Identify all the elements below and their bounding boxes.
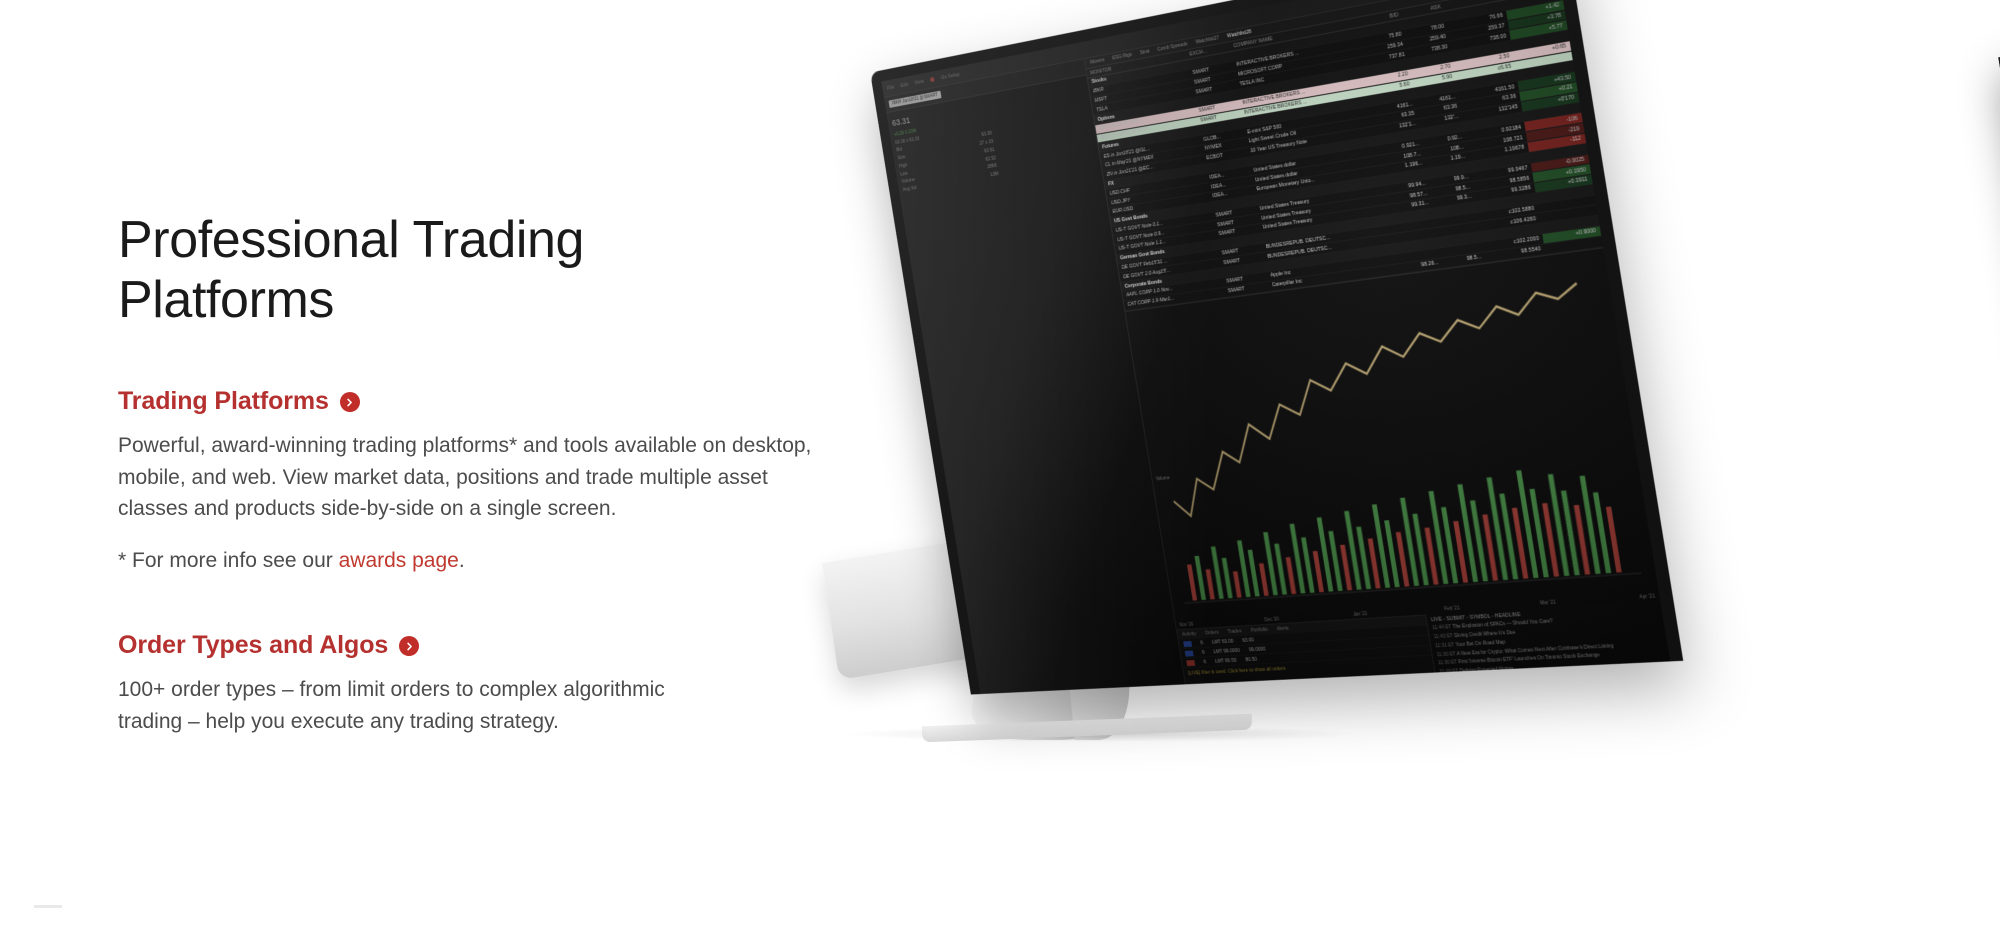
axis-tick: Dec '20 — [1264, 616, 1279, 622]
order-limit: LMT 63.00 — [1211, 638, 1233, 645]
stat-label: Avg Vol — [902, 184, 917, 194]
news-time: 11:15 ET — [1441, 679, 1461, 685]
orders-tab-alerts[interactable]: Alerts — [1276, 626, 1289, 633]
news-time: 11:43 ET — [1434, 634, 1454, 640]
sell-flag-icon — [1186, 660, 1195, 666]
news-headline: Defying Expected Norms — [1460, 667, 1514, 675]
order-value: 63.00 — [1242, 637, 1254, 643]
news-time: 11:00 ET — [1442, 688, 1462, 694]
order-qty: 6 — [1200, 640, 1203, 646]
axis-tick: Feb '21 — [1444, 605, 1460, 611]
tab-movers[interactable]: Movers — [1090, 57, 1105, 65]
menu-edit[interactable]: Edit — [900, 82, 908, 89]
order-types-body: 100+ order types – from limit orders to … — [118, 674, 718, 738]
axis-tick: Nov '20 — [1179, 622, 1193, 628]
order-types-label: Order Types and Algos — [118, 631, 388, 660]
menu-file[interactable]: File — [887, 84, 895, 91]
orders-tab-orders[interactable]: Orders — [1205, 630, 1220, 637]
tab-esg[interactable]: ESG Rtgs — [1112, 52, 1133, 61]
record-icon — [930, 77, 935, 82]
stat-value: 13M — [990, 170, 999, 179]
news-headline: Giving Credit Where It's Due — [1454, 631, 1516, 639]
axis-tick: Jan '21 — [1353, 611, 1368, 617]
order-qty: 6 — [1201, 649, 1204, 655]
monitor-screen: File Edit View Go Setup IBKR Jun18'21 @S… — [881, 0, 1670, 694]
news-headline: Chart of The Week: Global Economy: Fisca… — [1461, 674, 1572, 684]
app-body: IBKR Jun18'21 @SMART 63.31 +0.29 0.23% 6… — [884, 0, 1670, 694]
news-time: 11:44 ET — [1432, 625, 1452, 631]
orders-tab-trades[interactable]: Trades — [1227, 628, 1242, 635]
price-chart — [1125, 248, 1660, 630]
order-limit: LMT 80.50 — [1214, 657, 1236, 664]
news-headline: Your Bet On Road Map — [1455, 640, 1506, 648]
order-qty: 6 — [1203, 659, 1206, 665]
news-time: 11:30 ET — [1436, 652, 1456, 658]
chevron-right-circle-icon — [399, 636, 419, 656]
trading-platform-monitor-image: File Edit View Go Setup IBKR Jun18'21 @S… — [1010, 0, 2000, 941]
news-time: 11:29 ET — [1439, 670, 1459, 676]
chart-panel: Nov '20 Dec '20 Jan '21 Feb '21 Mar '21 … — [1125, 247, 1660, 630]
awards-page-link[interactable]: awards page — [339, 549, 459, 572]
menu-view[interactable]: View — [914, 78, 924, 85]
order-value: 80.50 — [1245, 656, 1257, 662]
tab-strat[interactable]: Strat — [1140, 49, 1150, 57]
trading-platforms-label: Trading Platforms — [118, 387, 329, 416]
news-item[interactable]: 11:15 ET Chart of The Week: Global Econo… — [1441, 668, 1669, 687]
setup-label[interactable]: Go Setup — [940, 71, 960, 80]
orders-tab-activity[interactable]: Activity — [1182, 631, 1197, 638]
order-limit: LMT 99.0000 — [1213, 647, 1240, 654]
trading-app: File Edit View Go Setup IBKR Jun18'21 @S… — [881, 0, 1670, 694]
section-trading-platforms: Trading Platforms Powerful, award-winnin… — [118, 387, 878, 577]
section-order-types: Order Types and Algos 100+ order types –… — [118, 631, 878, 738]
news-list: 11:44 ET The Explosion of SPACs — Should… — [1432, 612, 1670, 694]
trading-platforms-body: Powerful, award-winning trading platform… — [118, 430, 818, 526]
content-column: Professional Trading Platforms Trading P… — [118, 210, 878, 774]
news-time: 11:30 ET — [1438, 661, 1458, 667]
buy-flag-icon — [1185, 650, 1194, 656]
footnote-prefix: * For more info see our — [118, 549, 339, 572]
order-types-link[interactable]: Order Types and Algos — [118, 631, 419, 660]
page-edge-artifact — [34, 905, 62, 908]
news-time: 11:31 ET — [1435, 643, 1455, 649]
trading-platforms-link[interactable]: Trading Platforms — [118, 387, 360, 416]
trading-platforms-footnote: * For more info see our awards page. — [118, 545, 878, 577]
chevron-right-circle-icon — [340, 392, 360, 412]
axis-tick: Mar '21 — [1540, 599, 1557, 605]
buy-flag-icon — [1183, 641, 1192, 647]
monitor-screen-perspective: File Edit View Go Setup IBKR Jun18'21 @S… — [870, 0, 1683, 695]
page-title: Professional Trading Platforms — [118, 210, 638, 331]
news-headline: Saving Investors From Meme Stocks: GameS… — [1462, 682, 1585, 692]
footnote-suffix: . — [459, 549, 465, 572]
news-item[interactable]: 11:00 ET Saving Investors From Meme Stoc… — [1442, 677, 1670, 694]
order-value: 99.0000 — [1249, 646, 1266, 653]
orders-tab-portfolio[interactable]: Portfolio — [1250, 627, 1268, 634]
axis-tick: Apr '21 — [1639, 593, 1655, 599]
